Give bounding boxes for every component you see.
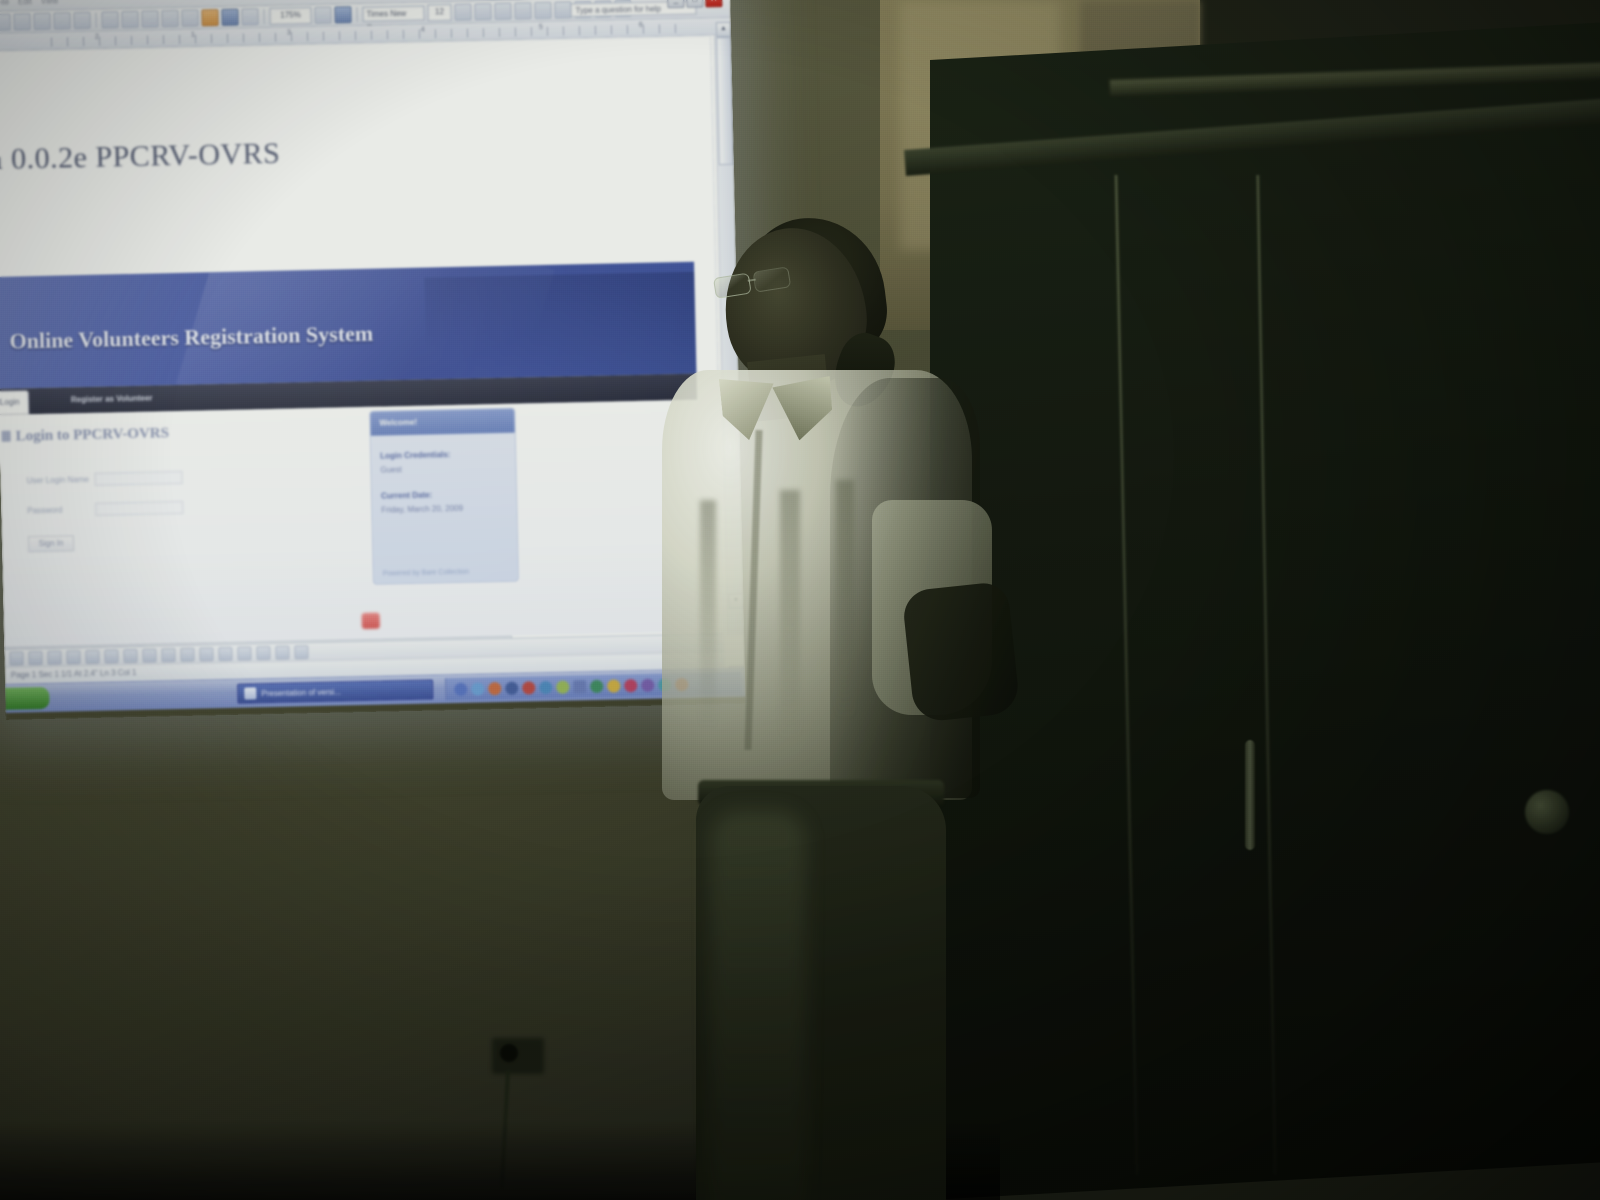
shirt-fold xyxy=(700,500,716,730)
spellcheck-icon[interactable] xyxy=(101,11,118,28)
window-controls[interactable]: _ □ ✕ xyxy=(667,0,722,8)
app-banner: Online Volunteers Registration System xyxy=(0,262,696,390)
antivirus-icon[interactable] xyxy=(539,680,552,693)
printer-icon[interactable] xyxy=(556,680,569,693)
presenter xyxy=(640,200,1060,1200)
toolbar-separator xyxy=(356,7,357,22)
cabinet-handle[interactable] xyxy=(1245,740,1255,850)
monitor-icon[interactable] xyxy=(573,680,586,693)
clock-icon[interactable] xyxy=(505,681,518,694)
format-painter-icon[interactable] xyxy=(181,9,198,26)
save-icon[interactable] xyxy=(33,13,50,30)
current-date-value: Friday, March 20, 2009 xyxy=(381,504,463,515)
word-document-icon xyxy=(244,687,256,699)
ruler-number: 2 xyxy=(95,34,99,41)
undo-icon[interactable] xyxy=(201,9,218,26)
fill-color-icon[interactable] xyxy=(237,646,251,660)
shield-icon[interactable] xyxy=(454,682,467,695)
password-input[interactable] xyxy=(95,501,183,516)
ruler-number: 6 xyxy=(639,22,643,29)
align-icon[interactable] xyxy=(494,3,511,20)
menu-item-view[interactable]: View xyxy=(41,0,58,6)
presenter-forearm xyxy=(901,581,1020,723)
hyperlink-icon[interactable] xyxy=(241,8,258,25)
ruler-number: 1 xyxy=(191,32,195,39)
login-credentials-value: Guest xyxy=(380,465,402,474)
login-heading: Login to PPCRV-OVRS xyxy=(1,425,169,446)
error-indicator-icon xyxy=(362,613,380,629)
help-icon[interactable] xyxy=(314,7,331,24)
draw-menu-icon[interactable] xyxy=(9,651,23,665)
ruler-number: 4 xyxy=(421,27,425,34)
login-heading-text: Login to PPCRV-OVRS xyxy=(15,425,169,444)
3d-style-icon[interactable] xyxy=(294,645,308,659)
bold-icon[interactable] xyxy=(454,4,471,21)
line-icon[interactable] xyxy=(66,650,80,664)
speaker-icon[interactable] xyxy=(488,682,501,695)
username-input[interactable] xyxy=(94,471,182,486)
login-credentials-label: Login Credentials: xyxy=(380,450,450,461)
wordart-icon[interactable] xyxy=(161,648,175,662)
redo-icon[interactable] xyxy=(221,9,238,26)
close-button[interactable]: ✕ xyxy=(705,0,722,7)
battery-icon[interactable] xyxy=(624,679,637,692)
paste-icon[interactable] xyxy=(161,10,178,27)
ruler-number: 5 xyxy=(539,24,543,31)
scroll-up-arrow-icon[interactable]: ▲ xyxy=(716,22,731,37)
scrollbar-thumb[interactable] xyxy=(716,37,734,165)
cut-icon[interactable] xyxy=(121,11,138,28)
arrow-icon[interactable] xyxy=(85,649,99,663)
autoshapes-icon[interactable] xyxy=(47,650,61,664)
list-icon[interactable] xyxy=(514,2,531,19)
font-size-select[interactable]: 12 xyxy=(427,4,451,22)
shadow-style-icon[interactable] xyxy=(275,645,289,659)
menu-item-edit[interactable]: Edit xyxy=(18,0,32,6)
welcome-info-panel: Welcome! Login Credentials: Guest Curren… xyxy=(369,408,519,585)
embedded-screenshot: Online Volunteers Registration System Lo… xyxy=(0,262,702,647)
open-icon[interactable] xyxy=(13,13,30,30)
update-icon[interactable] xyxy=(590,679,603,692)
tab-register-as-volunteer[interactable]: Register as Volunteer xyxy=(63,387,161,413)
app-body: Login to PPCRV-OVRS User Login Name Pass… xyxy=(0,400,702,647)
sign-in-button[interactable]: Sign In xyxy=(28,535,74,552)
highlight-icon[interactable] xyxy=(554,1,571,18)
document-page[interactable]: n 0.0.2e PPCRV-OVRS Online Volunteers Re… xyxy=(0,35,724,651)
tab-login[interactable]: Login xyxy=(0,390,29,415)
document-title-text: n 0.0.2e PPCRV-OVRS xyxy=(0,133,448,177)
login-heading-icon xyxy=(2,431,11,442)
network-icon[interactable] xyxy=(471,682,484,695)
border-icon[interactable] xyxy=(534,2,551,19)
toolbar-separator xyxy=(263,9,264,24)
password-label: Password xyxy=(27,506,62,516)
print-icon[interactable] xyxy=(53,12,70,29)
italic-icon[interactable] xyxy=(474,3,491,20)
start-button[interactable] xyxy=(0,687,50,711)
cabinet-knob[interactable] xyxy=(1525,790,1569,834)
word-window: File Edit View _ □ ✕ xyxy=(0,0,745,712)
panel-footer-text: Powered by Bare Collection xyxy=(383,569,470,578)
messenger-icon[interactable] xyxy=(522,681,535,694)
line-color-icon[interactable] xyxy=(256,646,270,660)
clipart-icon[interactable] xyxy=(199,647,213,661)
wall-outlet-socket xyxy=(500,1044,518,1062)
new-document-icon[interactable] xyxy=(0,14,11,31)
print-preview-icon[interactable] xyxy=(73,12,90,29)
font-name-select[interactable]: Times New Roman xyxy=(362,6,424,22)
read-icon[interactable] xyxy=(334,6,351,23)
restore-button[interactable]: □ xyxy=(686,0,703,8)
taskbar-item[interactable]: Presentation of versi... xyxy=(237,679,433,703)
toolbar-separator xyxy=(95,13,96,28)
welcome-panel-header: Welcome! xyxy=(370,409,514,436)
select-objects-icon[interactable] xyxy=(28,651,42,665)
oval-icon[interactable] xyxy=(123,648,137,662)
photo-scene: File Edit View _ □ ✕ xyxy=(0,0,1600,1200)
taskbar-item-label: Presentation of versi... xyxy=(261,687,341,698)
ruler-number: 3 xyxy=(287,29,291,36)
current-date-label: Current Date: xyxy=(381,490,432,500)
mail-icon[interactable] xyxy=(607,679,620,692)
shirt-fold xyxy=(780,490,800,740)
menu-item-file[interactable]: File xyxy=(0,0,9,7)
shirt-fold xyxy=(836,480,854,720)
textbox-icon[interactable] xyxy=(142,648,156,662)
trouser-highlight xyxy=(710,810,806,1200)
diagram-icon[interactable] xyxy=(180,647,194,661)
zoom-level-select[interactable]: 175% xyxy=(269,7,311,25)
rectangle-icon[interactable] xyxy=(104,649,118,663)
minimize-button[interactable]: _ xyxy=(667,0,684,8)
username-label: User Login Name xyxy=(27,475,89,485)
picture-icon[interactable] xyxy=(218,646,232,660)
projected-screen: File Edit View _ □ ✕ xyxy=(0,0,746,720)
copy-icon[interactable] xyxy=(141,10,158,27)
